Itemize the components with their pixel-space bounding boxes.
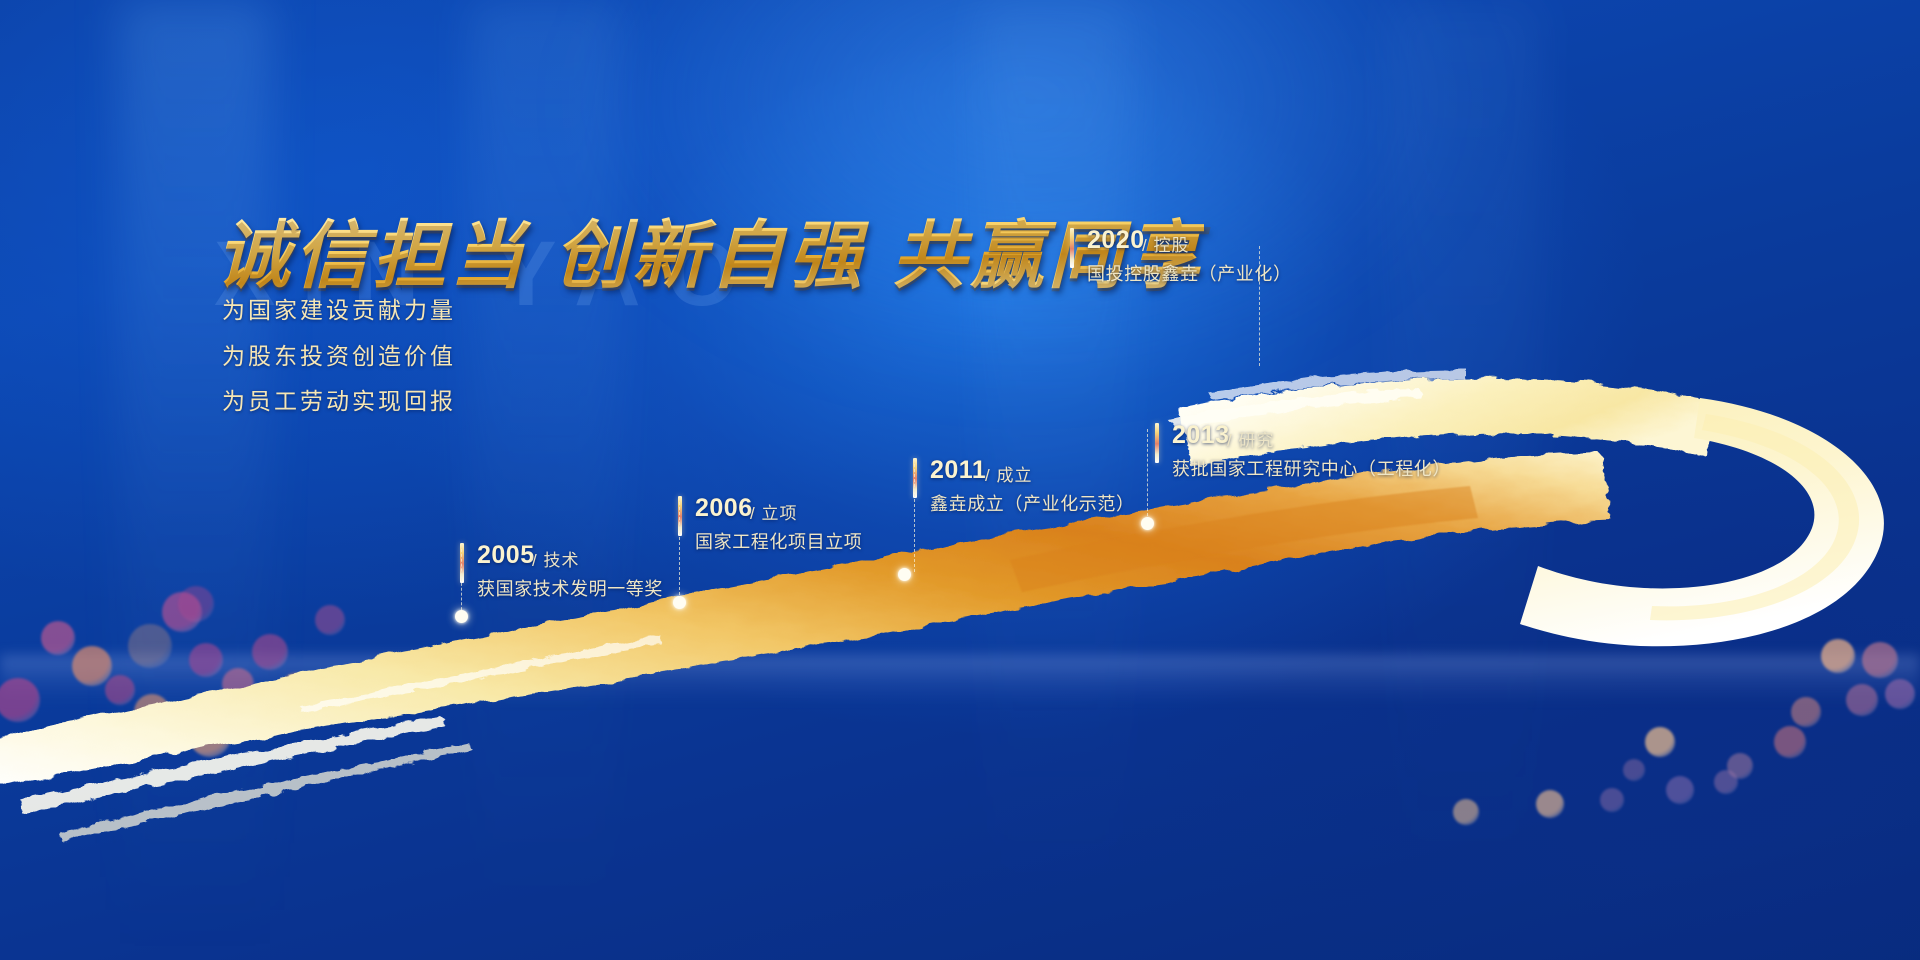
bokeh-light: [41, 621, 75, 655]
subtitle-line: 为国家建设贡献力量: [222, 291, 456, 325]
milestone-separator: /: [1227, 431, 1233, 450]
leader-line-2013: [1147, 429, 1148, 521]
headline-phrase: 诚信担当: [216, 216, 528, 298]
milestone-year: 2011: [930, 456, 986, 485]
timeline-dot-2013[interactable]: [1141, 517, 1154, 530]
bokeh-light: [1714, 770, 1738, 794]
milestone-tag: / 控股: [1142, 231, 1189, 256]
milestone-tag-text: 技术: [543, 551, 579, 570]
bokeh-light: [72, 646, 112, 686]
banner-canvas: XIN YAO 诚信担当创新自强共赢同享 为国家建设贡献力量 为股东投资创造价值…: [0, 0, 1920, 960]
milestone-desc: 鑫垚成立（产业化示范）: [930, 490, 1135, 516]
bokeh-light: [1645, 727, 1675, 757]
timeline-dot-2006[interactable]: [673, 596, 686, 609]
subtitle-line: 为员工劳动实现回报: [222, 382, 456, 416]
milestone-year: 2006: [695, 494, 753, 523]
milestone-tag: / 成立: [985, 461, 1032, 486]
milestone-separator: /: [532, 551, 538, 570]
milestone-desc: 国投控股鑫垚（产业化）: [1087, 260, 1292, 286]
bokeh-light: [128, 624, 172, 668]
bokeh-light: [178, 586, 214, 622]
light-shaft: [120, 0, 270, 960]
milestone-tag: / 技术: [532, 546, 579, 571]
leader-line-2006: [679, 502, 680, 600]
leader-line-2005: [461, 549, 462, 615]
bokeh-light: [1666, 776, 1694, 804]
bokeh-light: [252, 634, 288, 670]
milestone-separator: /: [750, 504, 756, 523]
milestone-year: 2020: [1087, 226, 1145, 255]
bokeh-light: [0, 678, 40, 722]
bokeh-light: [51, 723, 89, 761]
bokeh-light: [222, 668, 254, 700]
bokeh-light: [1536, 790, 1564, 818]
timeline-dot-2005[interactable]: [455, 610, 468, 623]
bokeh-light: [1600, 788, 1624, 812]
milestone-accent-bar: [1070, 228, 1074, 268]
bokeh-light: [1885, 679, 1915, 709]
bokeh-light: [1821, 639, 1855, 673]
milestone-desc: 获国家技术发明一等奖: [477, 575, 663, 601]
subtitle-line: 为股东投资创造价值: [222, 337, 456, 371]
bokeh-light: [1623, 759, 1645, 781]
milestone-tag: / 研究: [1227, 426, 1274, 451]
bokeh-light: [105, 675, 135, 705]
leader-line-2020: [1259, 246, 1260, 366]
milestone-desc: 国家工程化项目立项: [695, 528, 862, 554]
milestone-separator: /: [985, 466, 991, 485]
bokeh-light: [1791, 697, 1821, 727]
bokeh-light: [1862, 642, 1898, 678]
bokeh-light: [1846, 684, 1878, 716]
bokeh-light: [189, 643, 223, 677]
bokeh-light: [281, 673, 311, 703]
headline-phrase: 创新自强: [554, 216, 866, 298]
bokeh-light: [315, 605, 345, 635]
leader-line-2011: [914, 464, 915, 572]
timeline-dot-2011[interactable]: [898, 568, 911, 581]
milestone-year: 2005: [477, 541, 535, 570]
page-title: 诚信担当创新自强共赢同享: [216, 196, 1204, 303]
milestone-tag-text: 立项: [761, 504, 797, 523]
milestone-accent-bar: [1155, 423, 1159, 463]
milestone-tag-text: 研究: [1238, 431, 1274, 450]
milestone-tag: / 立项: [750, 499, 797, 524]
milestone-tag-text: 成立: [996, 466, 1032, 485]
bokeh-light: [1453, 799, 1479, 825]
milestone-tag-text: 控股: [1153, 236, 1189, 255]
bokeh-light: [1774, 726, 1806, 758]
bokeh-light: [189, 715, 231, 757]
milestone-desc: 获批国家工程研究中心（工程化）: [1172, 455, 1451, 481]
milestone-year: 2013: [1172, 421, 1230, 450]
milestone-separator: /: [1142, 236, 1148, 255]
bokeh-light: [134, 694, 170, 730]
